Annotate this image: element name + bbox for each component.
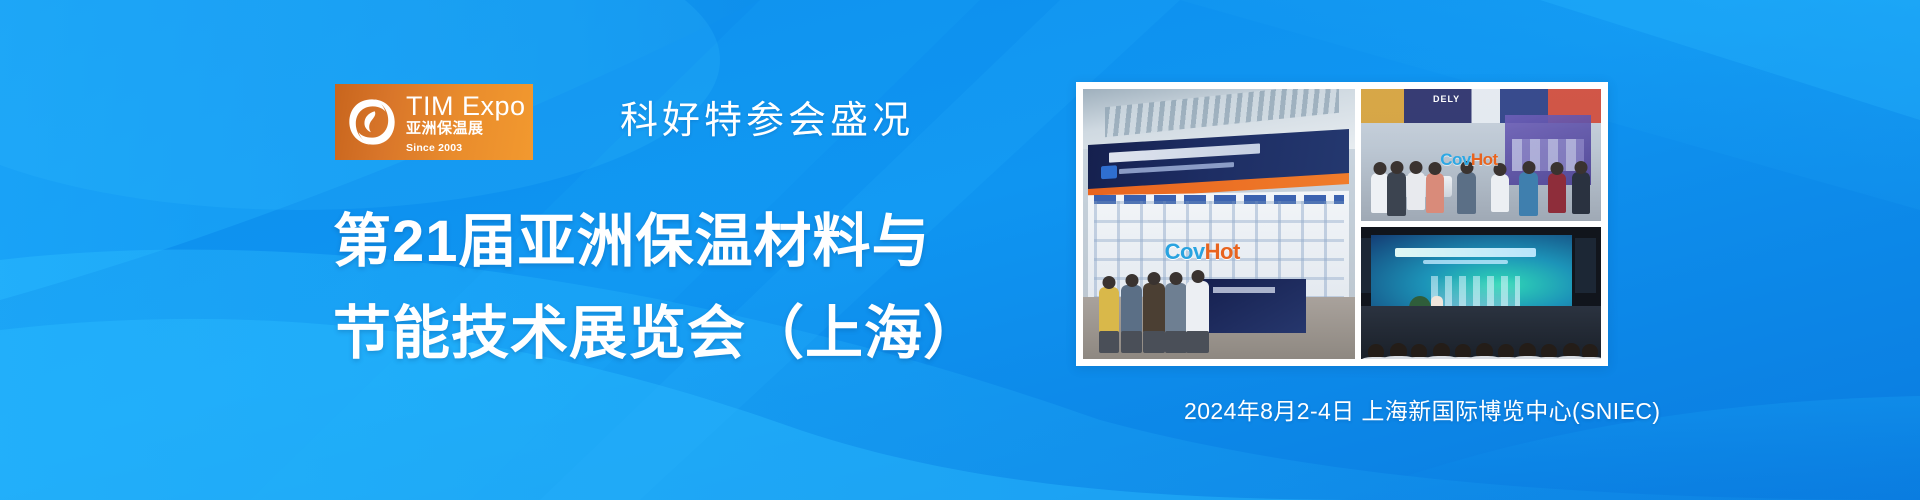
visitor-figure — [1572, 172, 1590, 214]
photo-collage: CovHot DELY — [1076, 82, 1608, 366]
tim-expo-logo[interactable]: TIM Expo 亚洲保温展 Since 2003 — [335, 84, 533, 160]
visitor-figure — [1519, 172, 1538, 216]
visitor-figure — [1165, 283, 1187, 333]
logo-english-name: TIM Expo — [406, 93, 526, 119]
visitor-figure — [1426, 173, 1444, 213]
audience-head — [1455, 344, 1471, 359]
title-line-1: 第21届亚洲保温材料与 — [333, 196, 1053, 288]
audience-head — [1390, 343, 1407, 359]
tim-expo-swirl-icon — [345, 95, 399, 149]
forum-photo: CovHot — [1361, 227, 1601, 359]
audience-head — [1411, 344, 1427, 359]
screen-subtitle-line — [1423, 260, 1508, 264]
screen-title-line — [1395, 248, 1536, 257]
logo-since-label: Since 2003 — [406, 142, 526, 154]
logo-chinese-name: 亚洲保温展 — [406, 120, 526, 138]
audience-head — [1563, 343, 1580, 359]
dely-sign-text: DELY — [1433, 94, 1460, 104]
audience-head — [1476, 343, 1493, 359]
audience-head — [1582, 344, 1598, 359]
visitor-figure — [1491, 174, 1509, 212]
forum-scene: CovHot — [1361, 227, 1601, 359]
page-title: 第21届亚洲保温材料与 节能技术展览会（上海） — [333, 196, 1053, 380]
audience-head — [1519, 343, 1536, 359]
logo-text-group: TIM Expo 亚洲保温展 Since 2003 — [406, 91, 526, 154]
expo-banner: TIM Expo 亚洲保温展 Since 2003 科好特参会盛况 第21届亚洲… — [0, 0, 1920, 500]
visitor-figure — [1186, 281, 1209, 333]
collage-right-column: DELY CovHot — [1361, 89, 1601, 359]
audience-head — [1368, 344, 1384, 359]
visitor-figure — [1407, 172, 1425, 210]
booth-company-en — [1120, 162, 1235, 174]
booth-company-cn — [1109, 143, 1260, 162]
audience-head — [1498, 344, 1514, 359]
covhot-watermark: CovHot — [1165, 239, 1240, 265]
visitor-figure — [1387, 172, 1406, 216]
visitor-figure — [1143, 283, 1165, 333]
subtitle-text: 科好特参会盛况 — [620, 98, 914, 144]
aisle-crowd-photo: DELY CovHot — [1361, 89, 1601, 221]
booth-reception-desk — [1203, 279, 1306, 333]
visitor-figure — [1121, 285, 1142, 333]
title-line-2: 节能技术展览会（上海） — [333, 288, 1053, 380]
booth-logo-badge — [1101, 165, 1117, 179]
visitor-figure — [1457, 172, 1476, 214]
date-venue-text: 2024年8月2-4日 上海新国际博览中心(SNIEC) — [1184, 396, 1660, 426]
booth-scene: CovHot — [1083, 89, 1355, 359]
stage-side-panel-right — [1575, 238, 1597, 293]
covhot-watermark: CovHot — [1440, 150, 1497, 170]
audience-area — [1361, 306, 1601, 359]
audience-head — [1541, 344, 1557, 359]
booth-photo: CovHot — [1083, 89, 1355, 359]
visitor-figure — [1548, 173, 1566, 213]
aisle-scene: DELY CovHot — [1361, 89, 1601, 221]
audience-head — [1433, 343, 1450, 359]
visitor-figure — [1099, 287, 1119, 333]
visitor-figure — [1371, 173, 1389, 213]
